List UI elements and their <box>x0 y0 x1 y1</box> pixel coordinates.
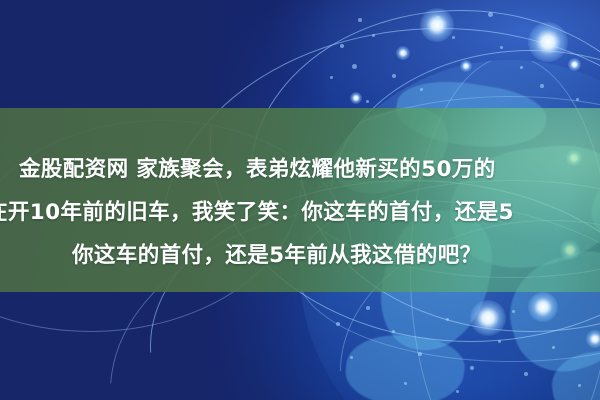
network-node-glow <box>586 330 600 348</box>
star-speck <box>500 46 503 49</box>
network-node-glow <box>568 58 581 71</box>
star-speck <box>470 366 474 370</box>
star-speck <box>366 306 370 310</box>
star-speck <box>488 12 493 17</box>
caption-text-block: 金股配资网 家族聚会，表弟炫耀他新买的50万的 在开10年前的旧车，我笑了笑：你… <box>0 108 600 292</box>
star-speck <box>540 84 544 88</box>
network-node-glow <box>396 46 410 60</box>
network-node-glow <box>460 60 472 72</box>
star-speck <box>420 88 423 91</box>
star-speck <box>404 382 407 385</box>
star-speck <box>576 98 579 101</box>
star-speck <box>498 340 501 343</box>
network-node-glow <box>528 292 558 322</box>
screenshot-canvas: 金股配资网 家族聚会，表弟炫耀他新买的50万的 在开10年前的旧车，我笑了笑：你… <box>0 0 600 400</box>
star-speck <box>352 64 357 69</box>
star-speck <box>392 74 396 78</box>
star-speck <box>452 36 455 39</box>
star-speck <box>446 318 449 321</box>
star-speck <box>366 100 369 103</box>
star-speck <box>456 390 459 393</box>
network-node-glow <box>420 8 454 42</box>
star-speck <box>392 330 395 333</box>
star-speck <box>578 384 581 387</box>
star-speck <box>520 66 523 69</box>
network-node-glow <box>470 300 506 336</box>
caption-line-2: 在开10年前的旧车，我笑了笑：你这车的首付，还是5 <box>0 195 514 226</box>
star-speck <box>552 346 555 349</box>
star-speck <box>418 352 422 356</box>
caption-line-3: 你这车的首付，还是5年前从我这借的吧？ <box>72 238 482 269</box>
star-speck <box>436 16 440 20</box>
network-node-glow <box>350 92 362 104</box>
star-speck <box>372 34 375 37</box>
star-speck <box>336 322 340 326</box>
star-speck <box>330 76 333 79</box>
star-speck <box>358 18 362 22</box>
star-speck <box>404 52 407 55</box>
caption-line-1: 金股配资网 家族聚会，表弟炫耀他新买的50万的 <box>19 152 496 183</box>
star-speck <box>340 44 344 48</box>
network-node-glow <box>528 22 568 62</box>
star-speck <box>512 310 515 313</box>
star-speck <box>524 372 528 376</box>
star-speck <box>350 356 353 359</box>
